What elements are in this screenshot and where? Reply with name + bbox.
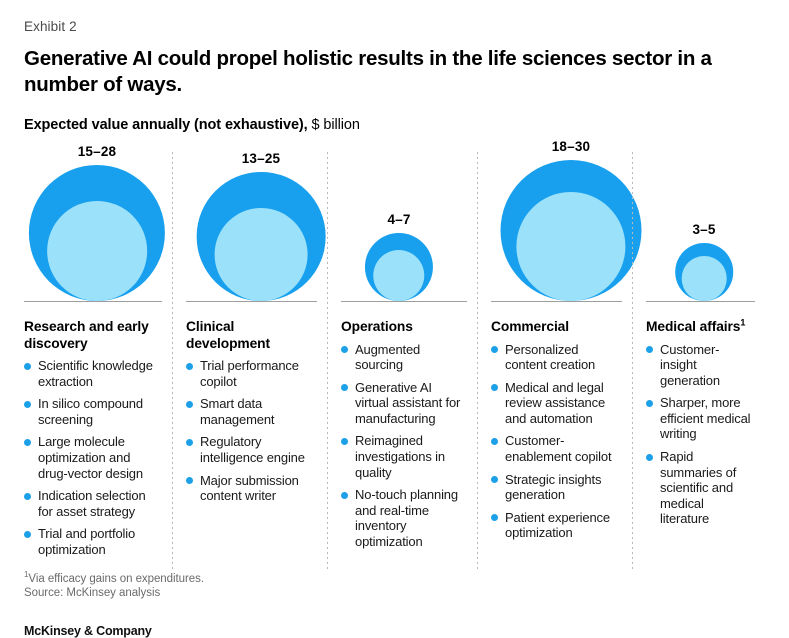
bubble-baseline — [24, 301, 162, 303]
use-case-list: Customer-insight generationSharper, more… — [646, 342, 755, 528]
list-item: In silico compound screening — [24, 396, 162, 427]
list-item: Reimagined investigations in quality — [341, 433, 467, 480]
use-case-list: Augmented sourcingGenerative AI virtual … — [341, 342, 467, 550]
list-item: Scientific knowledge extraction — [24, 358, 162, 389]
bubble-group: 15–28 — [24, 152, 162, 302]
column-header-label: Research and early discovery — [24, 319, 149, 351]
list-item: Smart data management — [186, 396, 317, 427]
exhibit-page: Exhibit 2 Generative AI could propel hol… — [0, 0, 789, 637]
column-header-label: Operations — [341, 319, 413, 334]
column-header: Commercial — [491, 319, 622, 336]
chart-column: 15–28Research and early discoveryScienti… — [24, 152, 172, 572]
list-item: Strategic insights generation — [491, 472, 622, 503]
bubble-value-label: 18–30 — [552, 139, 591, 154]
chart-column: 3–5Medical affairs1Customer-insight gene… — [632, 152, 765, 572]
bubble-value-label: 3–5 — [692, 222, 715, 237]
list-item: Augmented sourcing — [341, 342, 467, 373]
list-item: Patient experience optimization — [491, 510, 622, 541]
list-item: Rapid summaries of scientific and medica… — [646, 449, 755, 527]
bubble-group: 4–7 — [341, 152, 467, 302]
bubble-baseline — [341, 301, 467, 303]
bubble-value-label: 4–7 — [387, 212, 410, 227]
bubble-group: 18–30 — [491, 152, 622, 302]
column-body: Clinical developmentTrial performance co… — [186, 302, 317, 504]
list-item: Large molecule optimization and drug-vec… — [24, 434, 162, 481]
list-item: Trial performance copilot — [186, 358, 317, 389]
list-item: Major submission content writer — [186, 473, 317, 504]
chart-column: 18–30CommercialPersonalized content crea… — [477, 152, 632, 572]
column-footnote-marker: 1 — [740, 317, 745, 327]
bubble-baseline — [646, 301, 755, 303]
list-item: Trial and portfolio optimization — [24, 526, 162, 557]
bubble-baseline — [186, 301, 317, 303]
list-item: Medical and legal review assistance and … — [491, 380, 622, 427]
bubble-inner-low-estimate — [215, 208, 308, 301]
list-item: Regulatory intelligence engine — [186, 434, 317, 465]
column-body: Medical affairs1Customer-insight generat… — [646, 302, 755, 527]
bubble-group: 3–5 — [646, 152, 755, 302]
bubble-value-label: 15–28 — [78, 144, 117, 159]
use-case-list: Trial performance copilotSmart data mana… — [186, 358, 317, 504]
list-item: Indication selection for asset strategy — [24, 488, 162, 519]
bubble-baseline — [491, 301, 622, 303]
bubble-inner-low-estimate — [47, 201, 147, 301]
chart-subtitle: Expected value annually (not exhaustive)… — [24, 116, 765, 134]
list-item: Generative AI virtual assistant for manu… — [341, 380, 467, 427]
column-header-label: Commercial — [491, 319, 569, 334]
chart-columns: 15–28Research and early discoveryScienti… — [24, 152, 765, 572]
column-body: Research and early discoveryScientific k… — [24, 302, 162, 558]
subtitle-unit-part: $ billion — [312, 117, 360, 133]
use-case-list: Scientific knowledge extractionIn silico… — [24, 358, 162, 558]
subtitle-bold-part: Expected value annually (not exhaustive)… — [24, 117, 308, 133]
list-item: Sharper, more efficient medical writing — [646, 395, 755, 442]
page-title: Generative AI could propel holistic resu… — [24, 46, 724, 97]
column-body: CommercialPersonalized content creationM… — [491, 302, 622, 541]
list-item: No-touch planning and real-time inventor… — [341, 487, 467, 549]
column-header: Clinical development — [186, 319, 317, 352]
column-header: Operations — [341, 319, 467, 336]
column-body: OperationsAugmented sourcingGenerative A… — [341, 302, 467, 550]
chart-column: 13–25Clinical developmentTrial performan… — [172, 152, 327, 572]
footnotes: 1Via efficacy gains on expenditures. Sou… — [24, 572, 204, 600]
exhibit-label: Exhibit 2 — [24, 0, 765, 35]
footnote-text: Via efficacy gains on expenditures. — [28, 573, 204, 585]
chart-column: 4–7OperationsAugmented sourcingGenerativ… — [327, 152, 477, 572]
list-item: Customer-insight generation — [646, 342, 755, 389]
list-item: Personalized content creation — [491, 342, 622, 373]
source-line: Source: McKinsey analysis — [24, 586, 204, 600]
column-header: Medical affairs1 — [646, 319, 755, 336]
bubble-group: 13–25 — [186, 152, 317, 302]
column-header-label: Clinical development — [186, 319, 270, 351]
footnote-line: 1Via efficacy gains on expenditures. — [24, 572, 204, 586]
bubble-inner-low-estimate — [682, 256, 727, 301]
bubble-inner-low-estimate — [516, 192, 625, 301]
bubble-value-label: 13–25 — [242, 151, 281, 166]
column-header: Research and early discovery — [24, 319, 162, 352]
use-case-list: Personalized content creationMedical and… — [491, 342, 622, 542]
list-item: Customer-enablement copilot — [491, 433, 622, 464]
mckinsey-logo: McKinsey & Company — [24, 624, 152, 638]
column-header-label: Medical affairs — [646, 319, 740, 334]
